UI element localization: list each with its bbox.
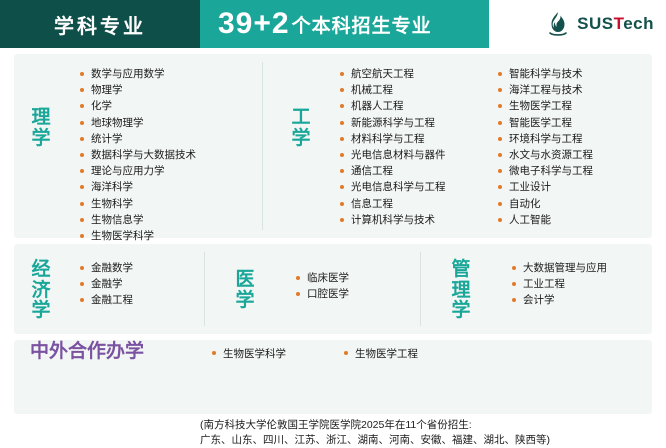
engineering-major-list-col1: 航空航天工程 机械工程 机器人工程 新能源科学与工程 材料科学与工程 光电信息材… <box>340 66 446 228</box>
list-item: 航空航天工程 <box>340 66 446 82</box>
list-item: 智能科学与技术 <box>498 66 593 82</box>
list-item: 生物医学科学 <box>80 228 196 244</box>
list-item: 通信工程 <box>340 163 446 179</box>
page-header: 学科专业 39+2 个本科招生专业 SUSTech <box>0 0 666 48</box>
header-logo-block: SUSTech <box>489 0 666 48</box>
list-item: 自动化 <box>498 196 593 212</box>
list-item: 金融学 <box>80 276 133 292</box>
list-item: 数据科学与大数据技术 <box>80 147 196 163</box>
category-engineering: 工学 <box>288 108 314 149</box>
engineering-major-list-col2: 智能科学与技术 海洋工程与技术 生物医学工程 智能医学工程 环境科学与工程 水文… <box>498 66 593 228</box>
divider-vertical-1 <box>262 62 263 230</box>
list-item: 生物科学 <box>80 196 196 212</box>
list-item: 会计学 <box>512 292 607 308</box>
list-item: 生物医学工程 <box>498 98 593 114</box>
admission-note-line2: 广东、山东、四川、江苏、浙江、湖南、河南、安徽、福建、湖北、陕西等) <box>200 433 652 448</box>
list-item: 生物医学工程 <box>344 346 418 361</box>
list-item: 金融工程 <box>80 292 133 308</box>
logo-wordmark: SUSTech <box>577 14 654 34</box>
list-item: 光电信息科学与工程 <box>340 179 446 195</box>
admission-note-line1: (南方科技大学伦敦国王学院医学院2025年在11个省份招生: <box>200 418 652 433</box>
list-item: 临床医学 <box>296 270 349 286</box>
list-item: 环境科学与工程 <box>498 131 593 147</box>
list-item: 统计学 <box>80 131 196 147</box>
category-economics: 经济学 <box>28 260 54 322</box>
divider-vertical-3 <box>420 252 421 326</box>
category-management: 管理学 <box>448 260 474 322</box>
list-item: 材料科学与工程 <box>340 131 446 147</box>
header-title-block: 学科专业 <box>0 0 200 48</box>
headline-suffix: 个本科招生专业 <box>292 11 432 38</box>
list-item: 地球物理学 <box>80 115 196 131</box>
list-item: 海洋工程与技术 <box>498 82 593 98</box>
list-item: 智能医学工程 <box>498 115 593 131</box>
list-item: 机器人工程 <box>340 98 446 114</box>
list-item: 人工智能 <box>498 212 593 228</box>
list-item: 生物信息学 <box>80 212 196 228</box>
list-item: 金融数学 <box>80 260 133 276</box>
science-major-list: 数学与应用数学 物理学 化学 地球物理学 统计学 数据科学与大数据技术 理论与应… <box>80 66 196 244</box>
list-item: 水文与水资源工程 <box>498 147 593 163</box>
list-item: 工业工程 <box>512 276 607 292</box>
list-item: 计算机科学与技术 <box>340 212 446 228</box>
sustech-logo: SUSTech <box>545 11 654 37</box>
list-item: 物理学 <box>80 82 196 98</box>
list-item: 新能源科学与工程 <box>340 115 446 131</box>
cooperation-major-list: 生物医学科学 生物医学工程 <box>212 346 418 361</box>
category-science: 理学 <box>28 108 54 149</box>
economics-major-list: 金融数学 金融学 金融工程 <box>80 260 133 309</box>
content-sheet: 理学 数学与应用数学 物理学 化学 地球物理学 统计学 数据科学与大数据技术 理… <box>0 48 666 420</box>
category-cooperation: 中外合作办学 <box>30 342 200 363</box>
list-item: 大数据管理与应用 <box>512 260 607 276</box>
logo-wordmark-text: SUSTech <box>577 14 654 33</box>
headline-number: 39+2 <box>218 9 290 39</box>
list-item: 机械工程 <box>340 82 446 98</box>
list-item: 化学 <box>80 98 196 114</box>
divider-vertical-2 <box>204 252 205 326</box>
list-item: 光电信息材料与器件 <box>340 147 446 163</box>
flame-logo-icon <box>545 11 571 37</box>
list-item: 生物医学科学 <box>212 346 286 361</box>
page-title: 学科专业 <box>54 10 146 39</box>
list-item: 口腔医学 <box>296 286 349 302</box>
list-item: 工业设计 <box>498 179 593 195</box>
admission-note: (南方科技大学伦敦国王学院医学院2025年在11个省份招生: 广东、山东、四川、… <box>200 418 652 448</box>
list-item: 数学与应用数学 <box>80 66 196 82</box>
medicine-major-list: 临床医学 口腔医学 <box>296 270 349 302</box>
list-item: 理论与应用力学 <box>80 163 196 179</box>
management-major-list: 大数据管理与应用 工业工程 会计学 <box>512 260 607 309</box>
list-item: 信息工程 <box>340 196 446 212</box>
header-headline-block: 39+2 个本科招生专业 <box>200 0 489 48</box>
list-item: 海洋科学 <box>80 179 196 195</box>
category-medicine: 医学 <box>232 270 258 311</box>
list-item: 微电子科学与工程 <box>498 163 593 179</box>
